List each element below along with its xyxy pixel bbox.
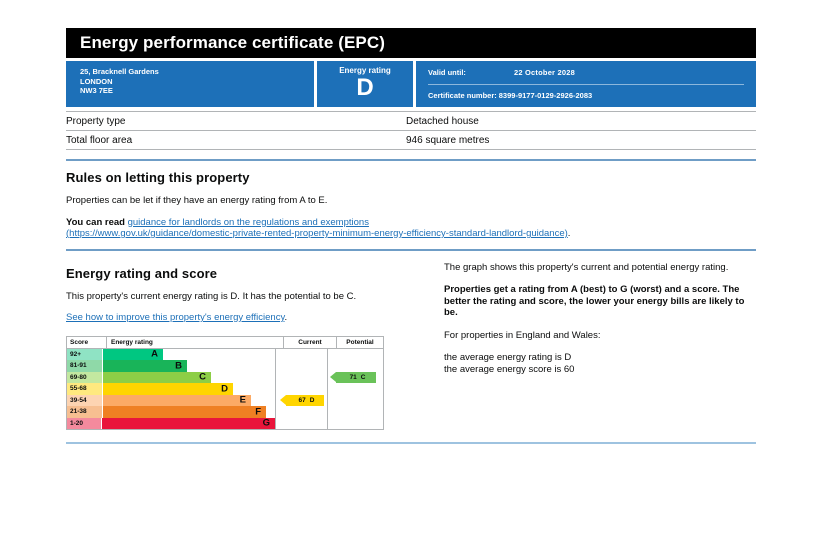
band-bar-e: E bbox=[103, 395, 251, 407]
certificate-meta: Valid until: 22 October 2028 Certificate… bbox=[416, 61, 756, 107]
certificate-number-value: 8399-9177-0129-2926-2083 bbox=[499, 91, 592, 100]
epc-band-g: 1-20 G bbox=[67, 418, 275, 430]
band-letter-b: B bbox=[175, 361, 182, 371]
certificate-number-label: Certificate number: bbox=[428, 91, 497, 100]
rules-guidance-paragraph: You can read guidance for landlords on t… bbox=[66, 217, 756, 240]
rating-and-score-section: Energy rating and score This property's … bbox=[66, 257, 756, 431]
epc-band-c: 69-80 C bbox=[67, 372, 275, 384]
header-current: Current bbox=[284, 337, 337, 348]
property-address: 25, Bracknell Gardens LONDON NW3 7EE bbox=[66, 61, 314, 107]
address-line-1: 25, Bracknell Gardens bbox=[80, 67, 314, 77]
average-rating: the average energy rating is D bbox=[444, 352, 756, 364]
band-bar-a: A bbox=[103, 349, 163, 361]
rules-heading: Rules on letting this property bbox=[66, 170, 756, 185]
certificate-summary: 25, Bracknell Gardens LONDON NW3 7EE Ene… bbox=[66, 61, 756, 107]
band-score-d: 55-68 bbox=[67, 383, 103, 395]
section-divider-rating bbox=[66, 249, 756, 251]
epc-band-a: 92+ A bbox=[67, 349, 275, 361]
valid-until-value: 22 October 2028 bbox=[514, 68, 575, 77]
epc-potential-column: 71 C bbox=[328, 349, 383, 430]
epc-chart-body: 92+ A 81-91 B 69-80 C 55-68 bbox=[67, 349, 383, 430]
rating-left-column: Energy rating and score This property's … bbox=[66, 257, 444, 431]
rating-right-column: The graph shows this property's current … bbox=[444, 257, 756, 431]
detail-key: Property type bbox=[66, 116, 406, 127]
epc-band-b: 81-91 B bbox=[67, 360, 275, 372]
epc-band-list: 92+ A 81-91 B 69-80 C 55-68 bbox=[67, 349, 276, 430]
epc-band-e: 39-54 E bbox=[67, 395, 275, 407]
band-letter-d: D bbox=[221, 384, 228, 394]
band-letter-f: F bbox=[255, 407, 261, 417]
band-bar-d: D bbox=[103, 383, 233, 395]
current-letter: D bbox=[310, 397, 315, 404]
band-bar-g: G bbox=[102, 418, 275, 430]
section-divider-rules bbox=[66, 159, 756, 161]
potential-score: 71 bbox=[350, 374, 357, 381]
potential-rating-arrow: 71 C bbox=[336, 372, 376, 384]
epc-page: Energy performance certificate (EPC) 25,… bbox=[66, 28, 756, 444]
landlord-guidance-url[interactable]: (https://www.gov.uk/guidance/domestic-pr… bbox=[66, 228, 568, 239]
improve-efficiency-link[interactable]: See how to improve this property's energ… bbox=[66, 312, 285, 323]
detail-value: Detached house bbox=[406, 116, 756, 127]
table-row: Total floor area 946 square metres bbox=[66, 131, 756, 150]
header-potential: Potential bbox=[337, 337, 383, 348]
band-score-b: 81-91 bbox=[67, 360, 103, 372]
band-score-e: 39-54 bbox=[67, 395, 103, 407]
page-title: Energy performance certificate (EPC) bbox=[66, 28, 756, 58]
graph-explainer: The graph shows this property's current … bbox=[444, 262, 756, 274]
energy-rating-badge: Energy rating D bbox=[317, 61, 413, 107]
rules-paragraph: Properties can be let if they have an en… bbox=[66, 195, 756, 207]
epc-rating-chart: Score Energy rating Current Potential 92… bbox=[66, 336, 384, 431]
band-letter-a: A bbox=[151, 350, 158, 360]
certificate-rule bbox=[428, 84, 744, 85]
address-line-3: NW3 7EE bbox=[80, 86, 314, 96]
epc-current-column: 67 D bbox=[276, 349, 328, 430]
rating-heading: Energy rating and score bbox=[66, 266, 444, 281]
header-score: Score bbox=[67, 337, 107, 348]
energy-rating-letter: D bbox=[317, 75, 413, 101]
band-bar-b: B bbox=[103, 360, 187, 372]
improve-trailing-period: . bbox=[285, 312, 288, 323]
address-line-2: LONDON bbox=[80, 77, 314, 87]
band-score-a: 92+ bbox=[67, 349, 103, 361]
current-score: 67 bbox=[299, 397, 306, 404]
current-rating-arrow: 67 D bbox=[286, 395, 324, 407]
table-row: Property type Detached house bbox=[66, 112, 756, 131]
detail-key: Total floor area bbox=[66, 135, 406, 146]
header-rating: Energy rating bbox=[107, 337, 284, 348]
band-score-g: 1-20 bbox=[67, 418, 102, 430]
rating-scale-explainer: Properties get a rating from A (best) to… bbox=[444, 284, 756, 319]
band-score-f: 21-38 bbox=[67, 406, 103, 418]
improve-efficiency-paragraph: See how to improve this property's energ… bbox=[66, 312, 444, 324]
valid-until-label: Valid until: bbox=[428, 68, 514, 77]
certificate-number-row: Certificate number:8399-9177-0129-2926-2… bbox=[428, 91, 744, 100]
band-score-c: 69-80 bbox=[67, 372, 103, 384]
band-bar-f: F bbox=[103, 406, 266, 418]
detail-value: 946 square metres bbox=[406, 135, 756, 146]
epc-band-f: 21-38 F bbox=[67, 406, 275, 418]
band-letter-c: C bbox=[199, 373, 206, 383]
band-letter-g: G bbox=[263, 419, 270, 429]
band-letter-e: E bbox=[240, 396, 246, 406]
band-bar-c: C bbox=[103, 372, 211, 384]
epc-chart-header: Score Energy rating Current Potential bbox=[67, 337, 383, 349]
property-details-table: Property type Detached house Total floor… bbox=[66, 111, 756, 150]
rules-trailing-period: . bbox=[568, 228, 571, 239]
rating-intro: This property's current energy rating is… bbox=[66, 291, 444, 303]
valid-until-row: Valid until: 22 October 2028 bbox=[428, 68, 744, 77]
epc-band-d: 55-68 D bbox=[67, 383, 275, 395]
section-divider-bottom bbox=[66, 442, 756, 444]
average-score: the average energy score is 60 bbox=[444, 364, 756, 376]
potential-letter: C bbox=[361, 374, 366, 381]
rules-read-prefix: You can read bbox=[66, 217, 128, 228]
england-wales-intro: For properties in England and Wales: bbox=[444, 330, 756, 342]
landlord-guidance-link[interactable]: guidance for landlords on the regulation… bbox=[128, 217, 369, 228]
